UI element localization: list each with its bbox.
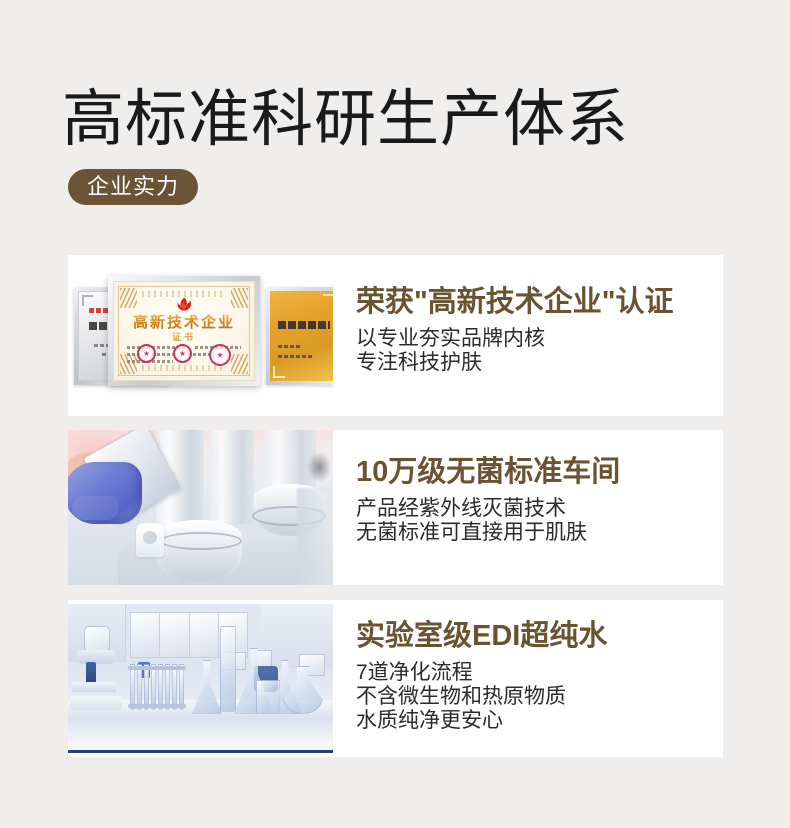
promo-page: 高标准科研生产体系 企业实力 — [0, 0, 790, 828]
card-line: 水质纯净更安心 — [356, 709, 715, 733]
card-line: 专注科技护肤 — [356, 351, 715, 375]
card-heading: 荣获"高新技术企业"认证 — [356, 285, 715, 319]
card-line: 无菌标准可直接用于肌肤 — [356, 521, 715, 545]
certificate-title: 高新技术企业 — [114, 315, 254, 331]
seal-stamp-icon — [209, 344, 231, 366]
cleanroom-scene — [68, 430, 333, 585]
card-line: 产品经紫外线灭菌技术 — [356, 497, 715, 521]
clip-tag-icon — [136, 523, 164, 557]
card-text-block: 荣获"高新技术企业"认证 以专业夯实品牌内核 专注科技护肤 — [356, 255, 715, 416]
test-tube-rack-icon — [128, 664, 186, 714]
seal-stamp-icon — [137, 344, 156, 363]
page-title: 高标准科研生产体系 — [62, 84, 629, 156]
certificate-seals — [114, 344, 254, 366]
graduated-cylinder-icon — [220, 626, 236, 712]
card-line: 以专业夯实品牌内核 — [356, 327, 715, 351]
seal-stamp-icon — [173, 344, 192, 363]
card-description: 以专业夯实品牌内核 专注科技护肤 — [356, 327, 715, 375]
card-heading: 实验室级EDI超纯水 — [356, 619, 715, 653]
cleanroom-photo — [68, 430, 333, 585]
certificate-scene: 高新技术企业 证书 — [68, 255, 333, 416]
feature-card-edi-water: 实验室级EDI超纯水 7道净化流程 不含微生物和热原物质 水质纯净更安心 — [68, 600, 723, 757]
card-description: 7道净化流程 不含微生物和热原物质 水质纯净更安心 — [356, 661, 715, 733]
status-badge: 企业实力 — [68, 169, 198, 205]
card-line: 7道净化流程 — [356, 661, 715, 685]
feature-card-cleanroom: 10万级无菌标准车间 产品经紫外线灭菌技术 无菌标准可直接用于肌肤 — [68, 430, 723, 585]
card-line: 不含微生物和热原物质 — [356, 685, 715, 709]
certificate-frame: 高新技术企业 证书 — [108, 276, 260, 386]
flame-logo-icon — [174, 297, 194, 313]
card-description: 产品经紫外线灭菌技术 无菌标准可直接用于肌肤 — [356, 497, 715, 545]
card-heading: 10万级无菌标准车间 — [356, 455, 715, 489]
conical-flask-icon — [192, 660, 222, 714]
laboratory-photo — [68, 600, 333, 757]
microscope-icon — [70, 626, 124, 710]
gold-plaque-icon — [266, 287, 333, 385]
blue-glove-icon — [68, 462, 142, 524]
certificate-photo: 高新技术企业 证书 — [68, 255, 333, 416]
feature-card-certification: 高新技术企业 证书 — [68, 255, 723, 416]
certificate-subtitle: 证书 — [114, 332, 254, 342]
laboratory-scene — [68, 604, 333, 753]
card-text-block: 10万级无菌标准车间 产品经紫外线灭菌技术 无菌标准可直接用于肌肤 — [356, 430, 715, 585]
card-text-block: 实验室级EDI超纯水 7道净化流程 不含微生物和热原物质 水质纯净更安心 — [356, 600, 715, 757]
